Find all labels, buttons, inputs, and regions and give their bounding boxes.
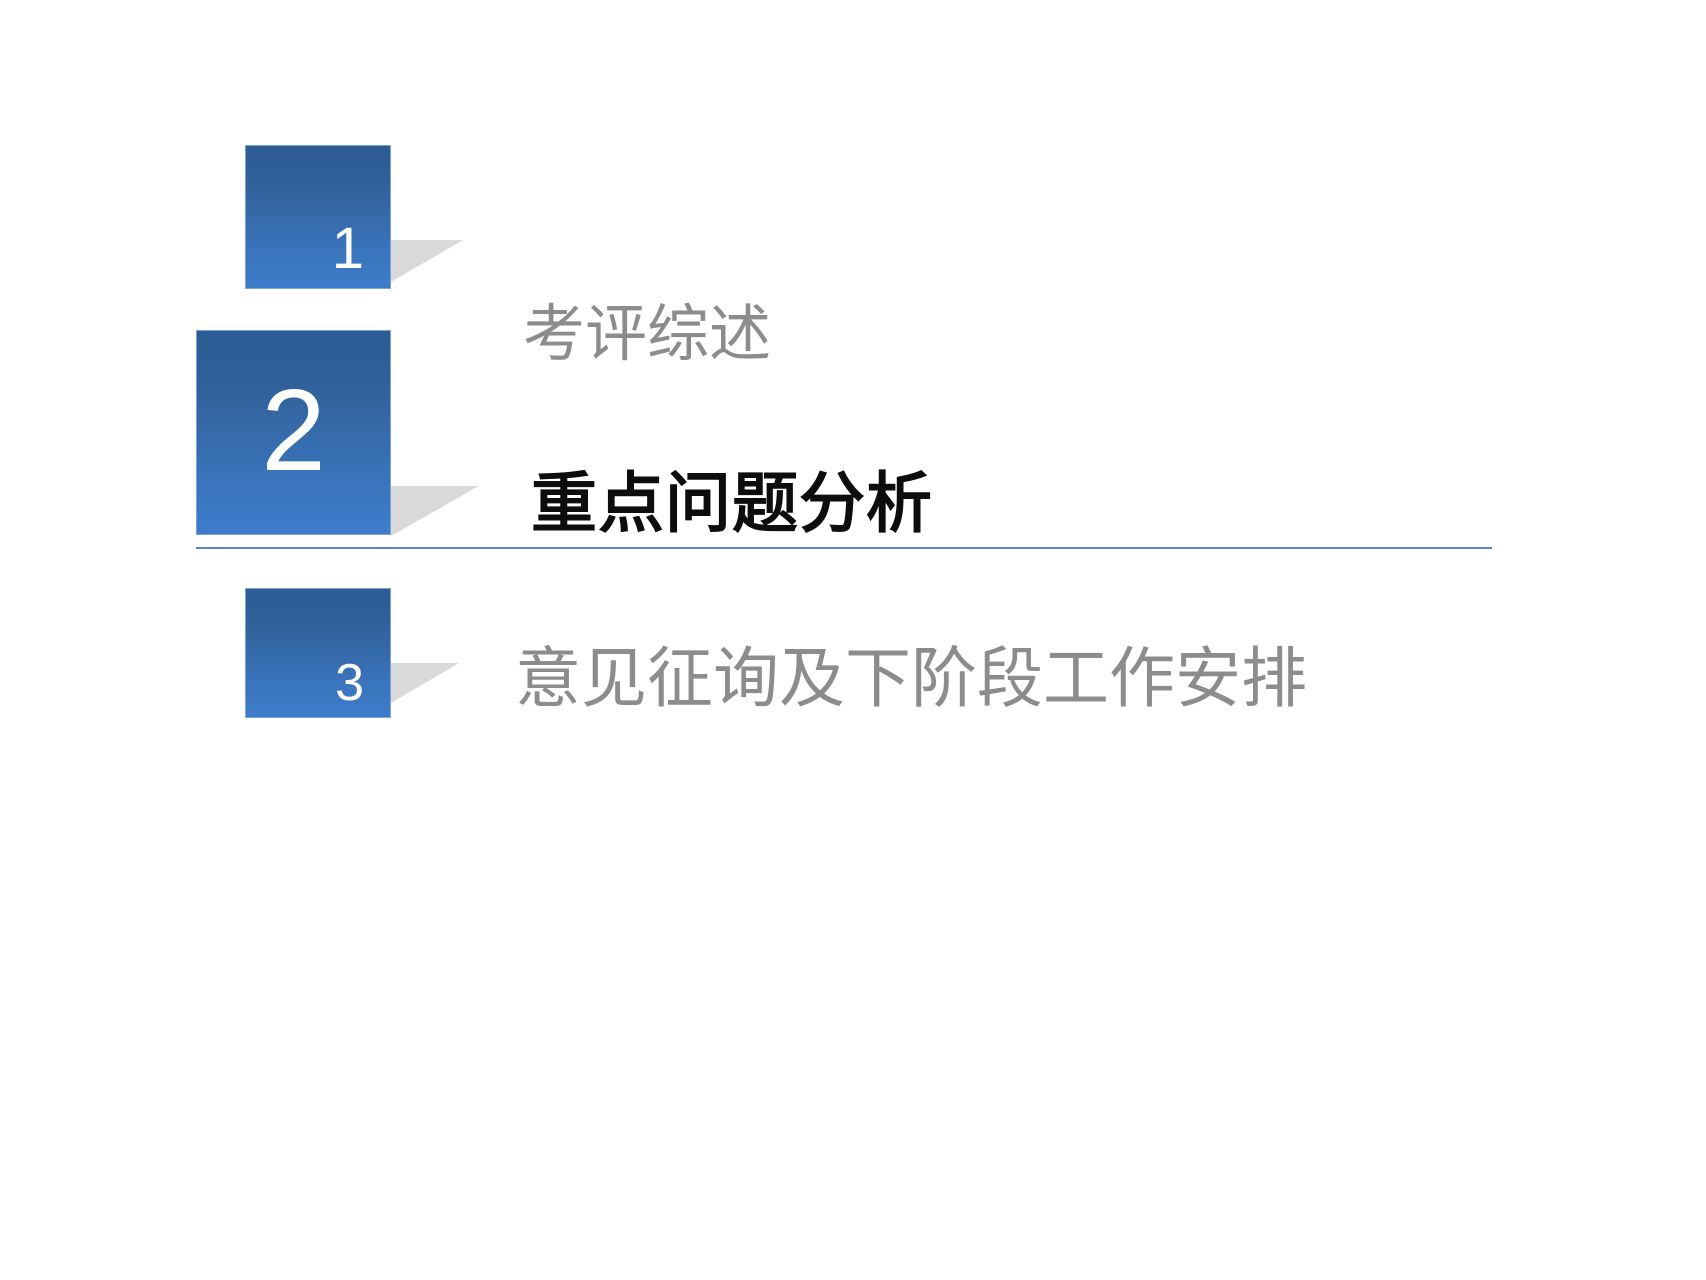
agenda-number-label-2: 2	[261, 372, 326, 494]
agenda-number-box-1[interactable]: 1	[245, 145, 391, 289]
agenda-slide: 1 考评综述 2 重点问题分析 3 意见征询及下阶段工作安排	[0, 0, 1706, 1280]
active-item-divider	[196, 547, 1492, 549]
agenda-item-label-1[interactable]: 考评综述	[523, 304, 771, 366]
agenda-number-label-3: 3	[335, 657, 390, 717]
agenda-number-box-2[interactable]: 2	[196, 330, 391, 535]
agenda-number-label-1: 1	[332, 220, 390, 288]
agenda-item-label-2[interactable]: 重点问题分析	[531, 470, 933, 536]
arrow-wedge-icon-3	[391, 663, 459, 703]
arrow-wedge-icon-1	[391, 240, 463, 282]
agenda-item-label-3[interactable]: 意见征询及下阶段工作安排	[515, 645, 1307, 711]
arrow-wedge-icon-2	[391, 486, 479, 536]
agenda-number-box-3[interactable]: 3	[245, 588, 391, 718]
